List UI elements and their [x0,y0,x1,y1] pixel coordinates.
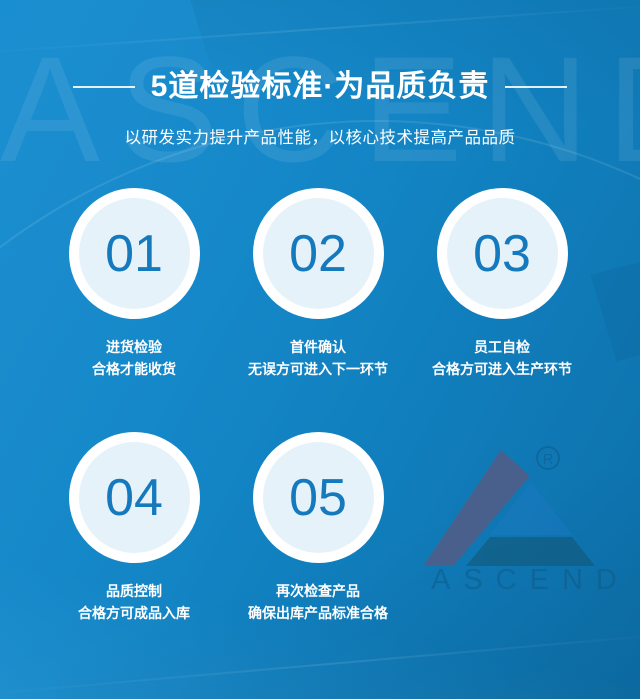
step-number-02: 02 [289,228,347,280]
step-caption-02: 首件确认 无误方可进入下一环节 [248,337,388,380]
step-circle-inner-01: 01 [79,198,190,309]
step-caption-line2-01: 合格才能收货 [92,359,176,381]
step-caption-04: 品质控制 合格方可成品入库 [78,581,190,624]
step-caption-line1-05: 再次检查产品 [276,583,360,599]
step-circle-inner-03: 03 [447,198,558,309]
step-number-04: 04 [105,472,163,524]
step-caption-line2-05: 确保出库产品标准合格 [248,603,388,625]
step-item-04: 04 品质控制 合格方可成品入库 [42,432,226,624]
step-number-01: 01 [105,228,163,280]
brand-logo-text: ASCEND [418,566,628,595]
step-caption-line1-02: 首件确认 [290,339,346,355]
step-caption-01: 进货检验 合格才能收货 [92,337,176,380]
brand-logo-mark: R [418,438,628,578]
title-rule-right [505,86,567,88]
step-circle-inner-04: 04 [79,442,190,553]
step-circle-04: 04 [69,432,200,563]
quality-standards-poster: ASCEND 5道检验标准·为品质负责 以研发实力提升产品性能，以核心技术提高产… [0,0,640,699]
step-item-02: 02 首件确认 无误方可进入下一环节 [226,188,410,380]
step-caption-05: 再次检查产品 确保出库产品标准合格 [248,581,388,624]
title-rule-left [73,86,135,88]
logo-trapezoid-base [466,537,595,566]
step-circle-05: 05 [253,432,384,563]
step-caption-line1-04: 品质控制 [106,583,162,599]
step-caption-line2-02: 无误方可进入下一环节 [248,359,388,381]
page-title: 5道检验标准·为品质负责 [151,72,490,102]
svg-text:R: R [543,451,554,468]
step-number-03: 03 [473,228,531,280]
step-caption-03: 员工自检 合格方可进入生产环节 [432,337,572,380]
step-caption-line1-01: 进货检验 [106,339,162,355]
step-circle-inner-05: 05 [263,442,374,553]
step-caption-line1-03: 员工自检 [474,339,530,355]
step-item-01: 01 进货检验 合格才能收货 [42,188,226,380]
step-item-03: 03 员工自检 合格方可进入生产环节 [410,188,594,380]
step-item-05: 05 再次检查产品 确保出库产品标准合格 [226,432,410,624]
step-caption-line2-04: 合格方可成品入库 [78,603,190,625]
page-subtitle: 以研发实力提升产品性能，以核心技术提高产品品质 [0,124,640,148]
poster-header: 5道检验标准·为品质负责 以研发实力提升产品性能，以核心技术提高产品品质 [0,0,640,148]
step-circle-02: 02 [253,188,384,319]
step-caption-line2-03: 合格方可进入生产环节 [432,359,572,381]
steps-row-top: 01 进货检验 合格才能收货 02 首件确认 无误方可进入下一环节 [0,188,640,380]
step-number-05: 05 [289,472,347,524]
title-row: 5道检验标准·为品质负责 [0,72,640,102]
step-circle-03: 03 [437,188,568,319]
registered-mark-icon: R [537,447,559,469]
step-circle-01: 01 [69,188,200,319]
step-circle-inner-02: 02 [263,198,374,309]
brand-logo: R ASCEND [418,438,628,603]
